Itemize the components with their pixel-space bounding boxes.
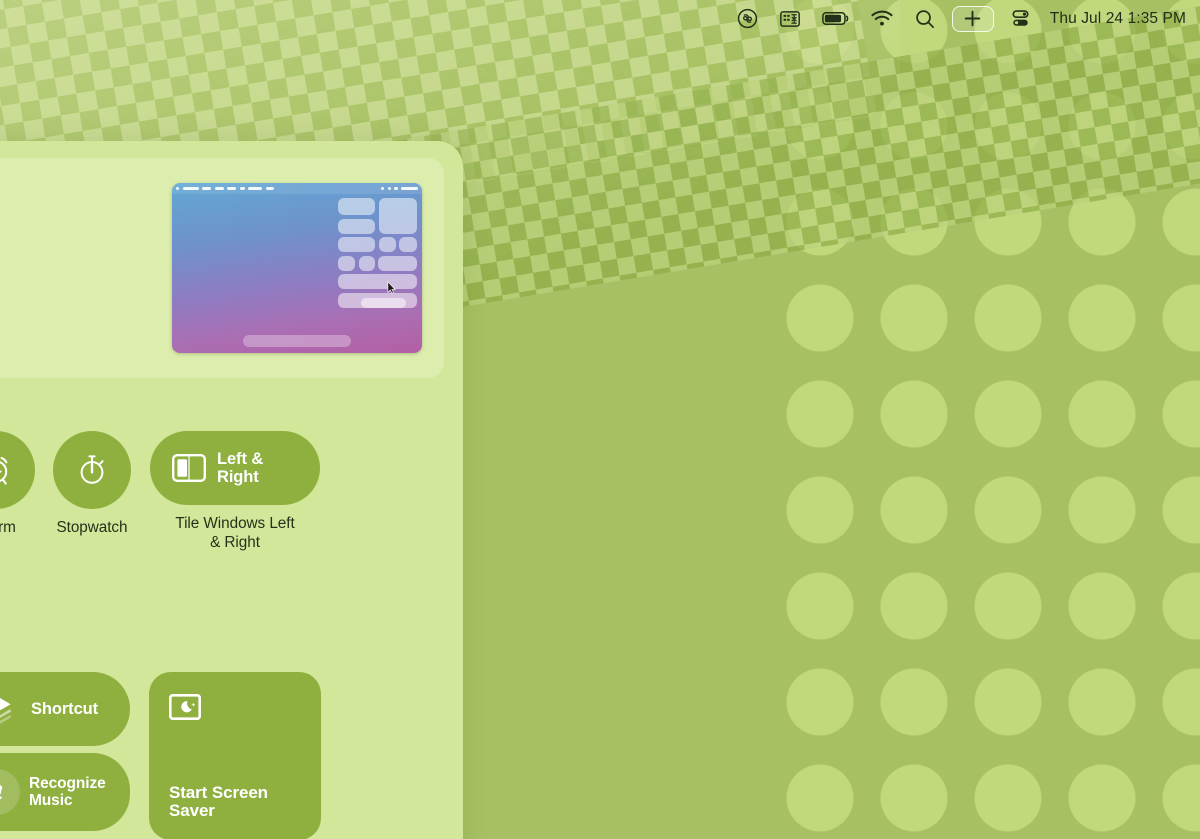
tile-stopwatch-surface[interactable] [53,431,131,509]
tile-tile-windows-title: Left & Right [217,450,298,486]
desktop-wallpaper: Thu Jul 24 1:35 PM r is more flexible si… [0,0,1200,839]
preview-mouse-cursor [387,281,396,294]
tile-start-screen-saver[interactable]: Start Screen Saver Start Screen Saver [140,672,330,839]
split-window-icon [172,454,206,482]
search-icon[interactable] [904,4,946,34]
stopwatch-icon [76,453,108,487]
tile-tile-windows-surface[interactable]: Left & Right [150,431,320,505]
shazam-icon [0,779,10,805]
desktop-widgets-preview [172,183,422,353]
input-source-icon[interactable] [769,4,811,34]
menu-bar-clock[interactable]: Thu Jul 24 1:35 PM [1041,10,1190,28]
creative-cloud-icon[interactable] [726,4,769,34]
tile-alarm-surface[interactable] [0,431,35,509]
tile-stopwatch[interactable]: Stopwatch [44,431,140,537]
tile-tile-windows-label: Tile Windows Left & Right [170,514,300,552]
wifi-icon[interactable] [860,4,904,34]
tile-start-screen-saver-title: Start Screen Saver [169,784,301,820]
tile-alarm[interactable]: Alarm [0,431,44,537]
tile-tile-windows[interactable]: Left & Right Tile Windows Left & Right [140,431,330,552]
preview-widget-small [361,298,406,308]
preview-menu-bar [172,183,422,194]
tile-run-shortcut-title: Shortcut [31,700,98,718]
control-center-icon[interactable] [1000,4,1041,34]
battery-icon[interactable] [811,4,860,34]
tile-recognize-music-title: Recognize Music [29,775,106,809]
hero-description-card: r is more flexible size and rearrange mi… [0,158,444,378]
menu-bar: Thu Jul 24 1:35 PM [0,0,1200,37]
hero-description-text: r is more flexible size and rearrange mi… [0,197,152,339]
tile-stopwatch-label: Stopwatch [57,518,128,537]
shortcuts-icon [0,691,20,727]
shazam-icon-bubble [0,769,20,815]
alarm-clock-icon [0,453,13,487]
tile-run-shortcut-surface[interactable]: Shortcut [0,672,130,746]
preview-dock [243,335,351,347]
tile-start-screen-saver-surface[interactable]: Start Screen Saver [149,672,321,839]
preview-widget-stack [338,198,417,308]
widgets-settings-panel: r is more flexible size and rearrange mi… [0,141,463,839]
shortcut-tiles-grid: y Alarm [0,431,458,839]
tile-alarm-label: Alarm [0,518,16,537]
screen-saver-icon [169,694,201,720]
plus-icon[interactable] [952,6,994,32]
tiles-row-1: y Alarm [0,431,458,654]
tile-recognize-music-surface[interactable]: Recognize Music [0,753,130,831]
tile-recognize-music[interactable]: Recognize Music Recognize Music [0,753,140,839]
